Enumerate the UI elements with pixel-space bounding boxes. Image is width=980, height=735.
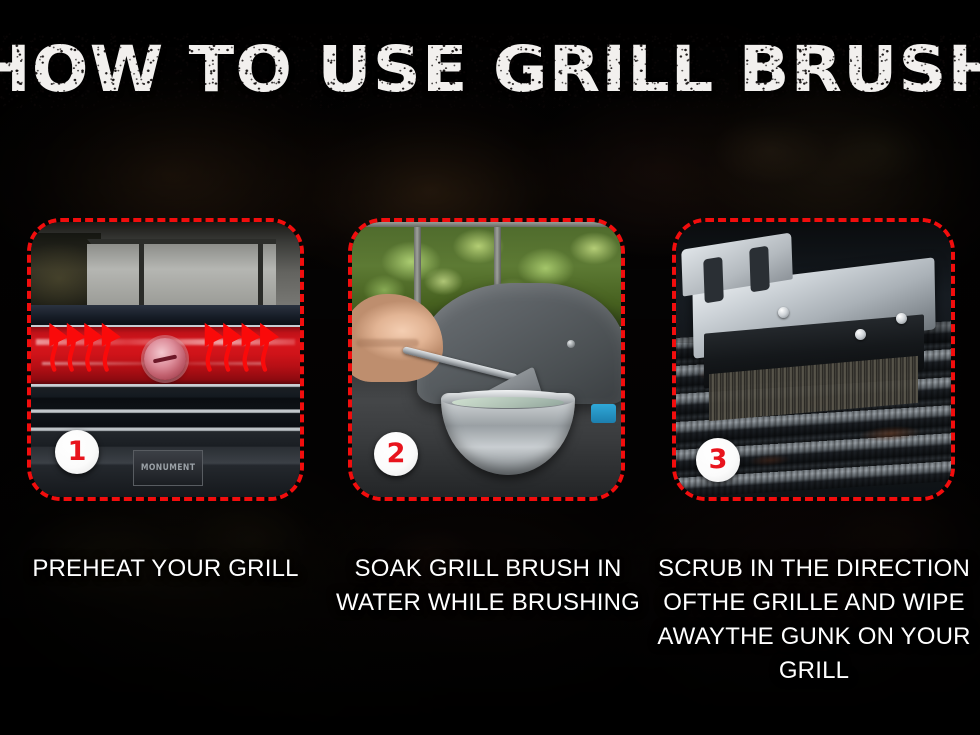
window-frame-top [352,222,621,227]
plate-rivet-2 [855,329,866,340]
step-number-3: 3 [709,446,728,473]
step-card-1: MONUMENT [27,218,304,501]
step-number-badge-1: 1 [55,430,99,474]
step-caption-3: SCRUB IN THE DIRECTION OFTHE GRILLE AND … [656,552,972,688]
step-number-badge-2: 2 [374,432,418,476]
mounting-slot-2 [749,245,770,292]
grill-lid [31,305,300,327]
step-card-2: 2 [348,218,625,501]
step-caption-1: PREHEAT YOUR GRILL [8,552,323,586]
step-caption-2: SOAK GRILL BRUSH IN WATER WHILE BRUSHING [330,552,646,620]
mounting-slot-1 [703,256,724,303]
blue-object [591,404,615,423]
step-card-3: 3 [672,218,955,501]
step-number-1: 1 [68,438,87,465]
title-container: HOW TO USE GRILL BRUSH [0,36,980,104]
step-number-2: 2 [387,440,406,467]
grill-control-knob [144,338,186,380]
page-title: HOW TO USE GRILL BRUSH [0,36,980,104]
step-number-badge-3: 3 [696,438,740,482]
infographic-root: HOW TO USE GRILL BRUSH MONUMENT [0,0,980,735]
water-in-bowl [452,397,565,408]
grill-brand-label: MONUMENT [141,463,196,473]
plate-rivet-3 [896,313,907,324]
grill-brand-plate: MONUMENT [133,450,203,486]
plate-rivet-1 [778,307,789,318]
grill-hood-window [87,239,275,308]
